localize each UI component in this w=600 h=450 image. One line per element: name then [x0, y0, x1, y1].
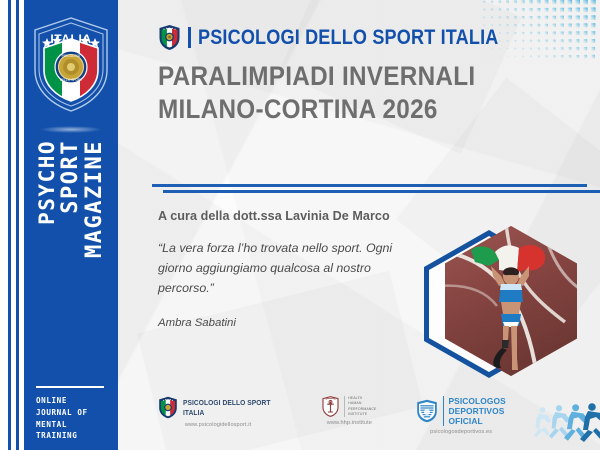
article-quote: “La vera forza l’ho trovata nello sport.… [158, 238, 412, 298]
left-sidebar: ITALIA PSICOLOGI DELLO SPORT [0, 0, 118, 450]
psicologos-deportivos-shield-icon [416, 399, 438, 423]
brand-lockup: PSICOLOGI DELLO SPORT ITALIA [158, 24, 547, 51]
magazine-word-psycho: PSYCHO [37, 140, 58, 225]
footer-logo-1-line1: PSICOLOGI DELLO SPORT [183, 398, 271, 408]
psicologi-shield-icon [158, 24, 181, 51]
svg-text:DELLO SPORT: DELLO SPORT [60, 78, 82, 82]
footer-logo-psicologos-deportivos: PSICOLOGOS DEPORTIVOS OFICIAL psicologos… [416, 396, 505, 435]
sidebar-divider [36, 386, 104, 388]
brand-divider-bar [188, 27, 191, 48]
footer-logo-psicologi-italia: PSICOLOGI DELLO SPORT ITALIA www.psicolo… [158, 396, 278, 428]
article-byline: A cura della dott.ssa Lavinia De Marco [158, 209, 390, 223]
page-title: PARALIMPIADI INVERNALI MILANO-CORTINA 20… [158, 60, 518, 126]
footer-logo-2-url[interactable]: www.hhp.institute [327, 420, 372, 426]
poster-canvas: ITALIA PSICOLOGI DELLO SPORT [0, 0, 600, 450]
footer-logo-3-url[interactable]: psicologosdeportivos.es [430, 429, 492, 435]
brand-title: PSICOLOGI DELLO SPORT ITALIA [198, 26, 498, 50]
quote-attribution: Ambra Sabatini [158, 317, 236, 329]
hhp-shield-icon [322, 396, 339, 417]
italia-shield-emblem: ITALIA PSICOLOGI DELLO SPORT [27, 12, 115, 116]
accent-rule-bottom [163, 190, 600, 193]
footer-logo-1-line2: ITALIA [183, 408, 271, 418]
magazine-vertical-title: MAGAZINE SPORT PSYCHO [24, 140, 118, 385]
footer-logo-hhp: HEALTH HUMAN PERFORMANCE INSTITUTE www.h… [322, 396, 376, 426]
psicologi-italia-shield-icon [158, 396, 178, 419]
sidebar-subtitle: ONLINE JOURNAL OF MENTAL TRAINING [36, 395, 110, 442]
athlete-photo-hexagon [424, 226, 584, 386]
sidebar-accent-line-1 [8, 0, 11, 450]
footer-runners-graphic [532, 398, 600, 442]
svg-text:PSICOLOGI: PSICOLOGI [62, 54, 81, 58]
magazine-word-magazine: MAGAZINE [84, 140, 106, 258]
psicologos-deportivos-text: PSICOLOGOS DEPORTIVOS OFICIAL [443, 396, 505, 426]
runners-icon [532, 398, 600, 442]
footer-logo-bar: PSICOLOGI DELLO SPORT ITALIA www.psicolo… [140, 396, 600, 446]
sidebar-accent-line-2 [16, 0, 19, 450]
accent-rule-top [152, 184, 587, 187]
hhp-logo-text: HEALTH HUMAN PERFORMANCE INSTITUTE [344, 396, 376, 417]
magazine-word-sport: SPORT [60, 140, 82, 214]
sidebar-glow-decor [40, 126, 102, 133]
footer-logo-1-url[interactable]: www.psicologidellosport.it [185, 422, 251, 428]
